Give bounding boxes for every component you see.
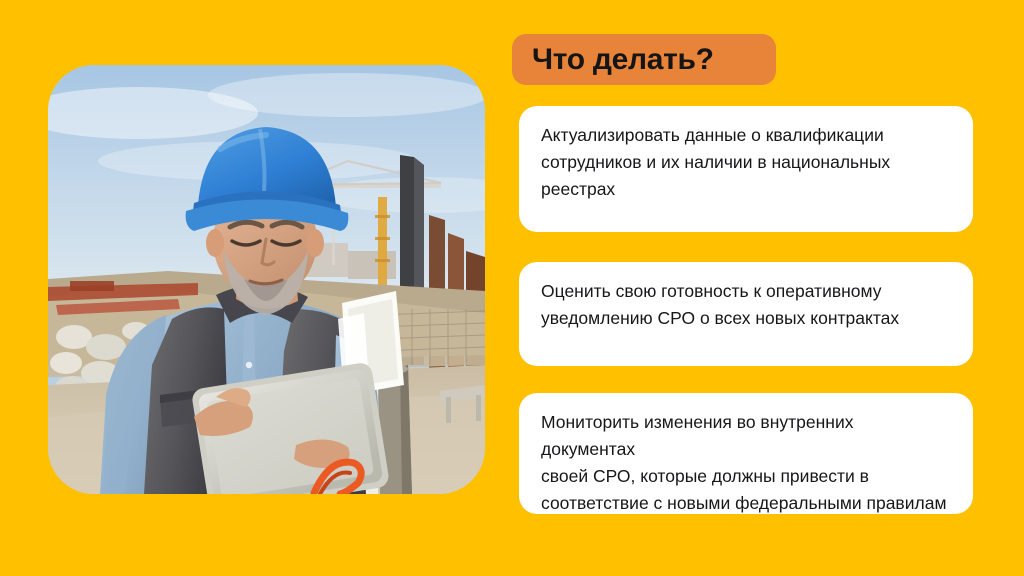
worker-photo — [48, 65, 485, 494]
card-text: Мониторить изменения во внутренних докум… — [541, 409, 951, 517]
page-title-badge: Что делать? — [512, 34, 776, 85]
card-text: Актуализировать данные о квалификации со… — [541, 122, 951, 203]
list-item: Мониторить изменения во внутренних докум… — [519, 393, 973, 514]
card-text: Оценить свою готовность к оперативному у… — [541, 278, 951, 332]
content-column: Что делать? Актуализировать данные о ква… — [512, 0, 1024, 576]
slide-root: Что делать? Актуализировать данные о ква… — [0, 0, 1024, 576]
list-item: Актуализировать данные о квалификации со… — [519, 106, 973, 232]
list-item: Оценить свою готовность к оперативному у… — [519, 262, 973, 366]
worker-photo-illustration — [48, 65, 485, 494]
page-title: Что делать? — [532, 43, 714, 77]
